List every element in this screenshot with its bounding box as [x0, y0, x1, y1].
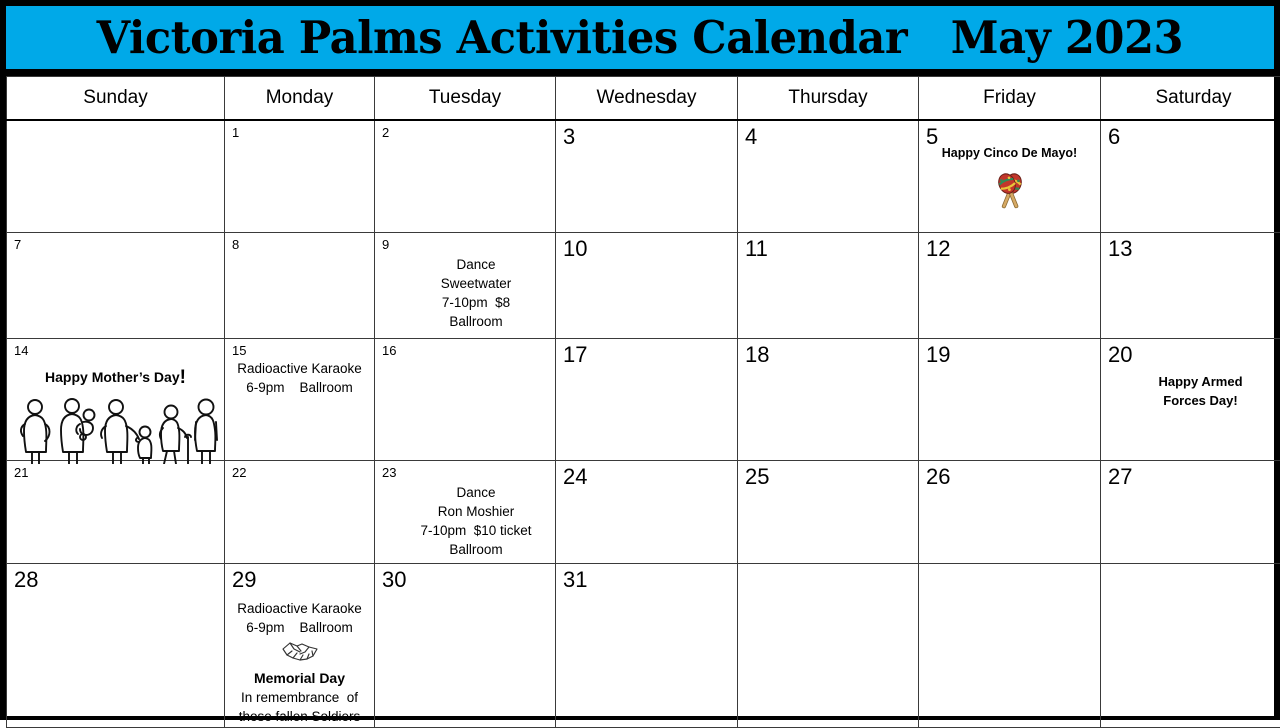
day-number: 14 [14, 344, 28, 358]
day-cell-31[interactable]: 31 [556, 564, 738, 728]
day-number: 27 [1108, 465, 1132, 488]
event-armed-forces-day: Happy Armed Forces Day! [1101, 373, 1280, 411]
day-cell-27[interactable]: 27 [1101, 461, 1280, 564]
event-dance-sweetwater: Dance Sweetwater 7-10pm $8 Ballroom [375, 255, 555, 332]
day-number: 6 [1108, 125, 1120, 148]
event-line: In remembrance of [225, 689, 374, 708]
day-cell-5[interactable]: 5 Happy Cinco De Mayo! [919, 120, 1101, 233]
weekday-header-friday: Friday [919, 77, 1101, 121]
day-number: 23 [382, 466, 396, 480]
event-line: Sweetwater [397, 274, 555, 293]
event-line: Happy Armed [1115, 373, 1280, 392]
event-exclamation: ! [180, 367, 186, 388]
event-memorial-day: Radioactive Karaoke 6-9pm Ballroom [225, 600, 374, 726]
day-number: 7 [14, 238, 21, 252]
calendar-week-row: 1 2 3 4 5 Happy Cinco De Mayo! [7, 120, 1280, 233]
event-line: Dance [397, 255, 555, 274]
day-number: 18 [745, 343, 769, 366]
calendar-week-row: 21 22 23 Dance Ron Moshier 7-10pm $10 ti… [7, 461, 1280, 564]
day-number: 16 [382, 344, 396, 358]
event-title: Memorial Day [225, 669, 374, 688]
day-cell-13[interactable]: 13 [1101, 233, 1280, 339]
day-number: 20 [1108, 343, 1132, 366]
day-cell-23[interactable]: 23 Dance Ron Moshier 7-10pm $10 ticket B… [375, 461, 556, 564]
weekday-header-sunday: Sunday [7, 77, 225, 121]
day-cell-18[interactable]: 18 [738, 339, 919, 461]
day-number: 13 [1108, 237, 1132, 260]
day-cell-17[interactable]: 17 [556, 339, 738, 461]
day-cell-19[interactable]: 19 [919, 339, 1101, 461]
day-cell-10[interactable]: 10 [556, 233, 738, 339]
day-number: 22 [232, 466, 246, 480]
event-line: Ron Moshier [397, 502, 555, 521]
event-radioactive-karaoke: Radioactive Karaoke 6-9pm Ballroom [225, 359, 374, 397]
day-cell-1[interactable]: 1 [225, 120, 375, 233]
weekday-header-monday: Monday [225, 77, 375, 121]
event-line: 6-9pm Ballroom [225, 619, 374, 638]
day-cell-7[interactable]: 7 [7, 233, 225, 339]
day-cell-9[interactable]: 9 Dance Sweetwater 7-10pm $8 Ballroom [375, 233, 556, 339]
day-cell-28[interactable]: 28 [7, 564, 225, 728]
event-text: Happy Mother’s Day [45, 369, 180, 385]
calendar-grid: Sunday Monday Tuesday Wednesday Thursday… [0, 76, 1280, 720]
day-cell-21[interactable]: 21 [7, 461, 225, 564]
event-mothers-day: Happy Mother’s Day! [7, 367, 224, 389]
day-cell-22[interactable]: 22 [225, 461, 375, 564]
event-line: 7-10pm $8 [397, 293, 555, 312]
day-number: 24 [563, 465, 587, 488]
event-line: 6-9pm Ballroom [225, 378, 374, 397]
day-cell-3[interactable]: 3 [556, 120, 738, 233]
event-line: Forces Day! [1115, 392, 1280, 411]
event-line: Radioactive Karaoke [225, 359, 374, 378]
day-number: 28 [14, 568, 38, 591]
day-cell-14[interactable]: 14 Happy Mother’s Day! [7, 339, 225, 461]
calendar-table: Sunday Monday Tuesday Wednesday Thursday… [6, 76, 1280, 728]
calendar-title: Victoria Palms Activities Calendar May 2… [97, 15, 1184, 60]
day-number: 31 [563, 568, 587, 591]
day-cell-empty[interactable] [738, 564, 919, 728]
day-cell-25[interactable]: 25 [738, 461, 919, 564]
day-number: 3 [563, 125, 575, 148]
event-line: Dance [397, 483, 555, 502]
day-cell-empty[interactable] [919, 564, 1101, 728]
day-number: 2 [382, 126, 389, 140]
day-cell-empty[interactable] [7, 120, 225, 233]
day-cell-26[interactable]: 26 [919, 461, 1101, 564]
event-cinco-de-mayo: Happy Cinco De Mayo! [919, 145, 1100, 217]
event-dance-ron-moshier: Dance Ron Moshier 7-10pm $10 ticket Ball… [375, 483, 555, 560]
event-line: Ballroom [397, 540, 555, 559]
weekday-header-tuesday: Tuesday [375, 77, 556, 121]
event-line: Ballroom [397, 312, 555, 331]
day-number: 17 [563, 343, 587, 366]
day-cell-11[interactable]: 11 [738, 233, 919, 339]
event-line: those fallen Soldiers [225, 708, 374, 727]
day-cell-16[interactable]: 16 [375, 339, 556, 461]
day-number: 11 [745, 237, 768, 260]
day-number: 12 [926, 237, 950, 260]
handshake-icon [225, 640, 374, 668]
event-line: 7-10pm $10 ticket [397, 521, 555, 540]
calendar-banner: Victoria Palms Activities Calendar May 2… [0, 0, 1280, 76]
day-cell-empty[interactable] [1101, 564, 1280, 728]
day-number: 21 [14, 466, 28, 480]
weekday-header-row: Sunday Monday Tuesday Wednesday Thursday… [7, 77, 1280, 121]
day-cell-15[interactable]: 15 Radioactive Karaoke 6-9pm Ballroom [225, 339, 375, 461]
day-cell-8[interactable]: 8 [225, 233, 375, 339]
day-number: 4 [745, 125, 757, 148]
day-cell-30[interactable]: 30 [375, 564, 556, 728]
event-line: Radioactive Karaoke [225, 600, 374, 619]
day-cell-2[interactable]: 2 [375, 120, 556, 233]
calendar-week-row: 14 Happy Mother’s Day! [7, 339, 1280, 461]
day-number: 26 [926, 465, 950, 488]
day-number: 29 [232, 568, 256, 591]
calendar-banner-inner: Victoria Palms Activities Calendar May 2… [6, 6, 1274, 69]
day-number: 25 [745, 465, 769, 488]
weekday-header-thursday: Thursday [738, 77, 919, 121]
day-number: 9 [382, 238, 389, 252]
day-number: 10 [563, 237, 587, 260]
day-cell-20[interactable]: 20 Happy Armed Forces Day! [1101, 339, 1280, 461]
weekday-header-wednesday: Wednesday [556, 77, 738, 121]
day-number: 30 [382, 568, 406, 591]
family-figures-icon [13, 398, 219, 464]
calendar-week-row: 7 8 9 Dance Sweetwater 7-10pm $8 Ballroo… [7, 233, 1280, 339]
maracas-icon [919, 171, 1100, 217]
calendar-week-row: 28 29 Radioactive Karaoke 6-9pm Ballroom [7, 564, 1280, 728]
day-cell-4[interactable]: 4 [738, 120, 919, 233]
day-cell-12[interactable]: 12 [919, 233, 1101, 339]
day-number: 8 [232, 238, 239, 252]
weekday-header-saturday: Saturday [1101, 77, 1280, 121]
day-cell-29[interactable]: 29 Radioactive Karaoke 6-9pm Ballroom [225, 564, 375, 728]
day-number: 15 [232, 344, 246, 358]
day-number: 1 [232, 126, 239, 140]
event-text: Happy Cinco De Mayo! [942, 146, 1077, 160]
day-cell-6[interactable]: 6 [1101, 120, 1280, 233]
day-cell-24[interactable]: 24 [556, 461, 738, 564]
day-number: 19 [926, 343, 950, 366]
